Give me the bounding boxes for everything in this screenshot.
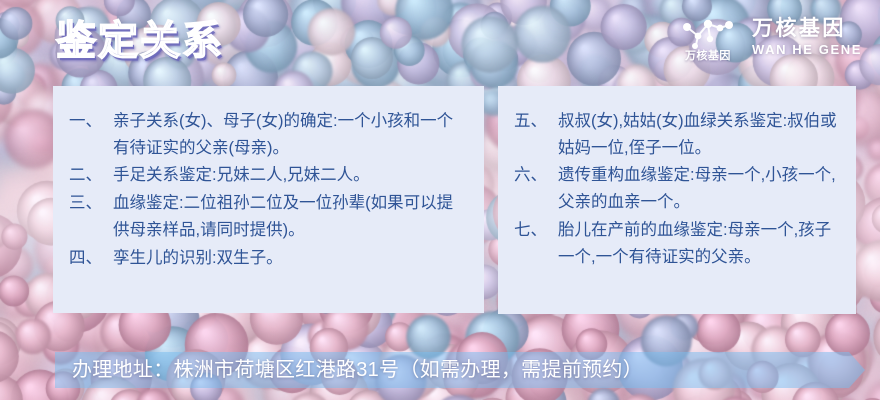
footer-address-text: 办理地址：株洲市荷塘区红港路31号（如需办理，需提前预约） — [72, 352, 643, 388]
molecule-icon: 万核基因 — [674, 14, 742, 62]
list-item-text: 亲子关系(女)、母子(女)的确定:一个小孩和一个有待证实的父亲(母亲)。 — [113, 108, 468, 161]
list-item: 六、遗传重构血缘鉴定:母亲一个,小孩一个,父亲的血亲一个。 — [514, 162, 840, 215]
list-item: 四、孪生儿的识别:双生子。 — [69, 245, 468, 272]
list-item-number: 一、 — [69, 108, 113, 161]
list-item-text: 胎儿在产前的血缘鉴定:母亲一个,孩子一个,一个有待证实的父亲。 — [558, 217, 840, 270]
relationship-list-left: 一、亲子关系(女)、母子(女)的确定:一个小孩和一个有待证实的父亲(母亲)。二、… — [69, 108, 468, 271]
list-item-number: 五、 — [514, 108, 558, 161]
page-title: 鉴定关系 — [56, 16, 224, 66]
logo-mark-label: 万核基因 — [674, 47, 742, 63]
list-item-number: 二、 — [69, 162, 113, 189]
relationship-list-right: 五、叔叔(女),姑姑(女)血绿关系鉴定:叔伯或姑妈一位,侄子一位。六、遗传重构血… — [514, 108, 840, 270]
list-item-text: 叔叔(女),姑姑(女)血绿关系鉴定:叔伯或姑妈一位,侄子一位。 — [558, 108, 840, 161]
list-item: 七、胎儿在产前的血缘鉴定:母亲一个,孩子一个,一个有待证实的父亲。 — [514, 217, 840, 270]
list-item-text: 手足关系鉴定:兄妹二人,兄妹二人。 — [113, 162, 468, 189]
list-item-text: 遗传重构血缘鉴定:母亲一个,小孩一个,父亲的血亲一个。 — [558, 162, 840, 215]
list-item-number: 四、 — [69, 245, 113, 272]
info-panel-left: 一、亲子关系(女)、母子(女)的确定:一个小孩和一个有待证实的父亲(母亲)。二、… — [53, 86, 484, 313]
list-item: 三、血缘鉴定:二位祖孙二位及一位孙辈(如果可以提供母亲样品,请同时提供)。 — [69, 190, 468, 243]
brand-name-cn: 万核基因 — [752, 17, 862, 41]
info-panel-right: 五、叔叔(女),姑姑(女)血绿关系鉴定:叔伯或姑妈一位,侄子一位。六、遗传重构血… — [498, 86, 856, 314]
poster-root: 鉴定关系 — [0, 0, 880, 400]
list-item-number: 七、 — [514, 217, 558, 270]
list-item-text: 血缘鉴定:二位祖孙二位及一位孙辈(如果可以提供母亲样品,请同时提供)。 — [113, 190, 468, 243]
brand-name: 万核基因 WAN HE GENE — [752, 17, 862, 59]
list-item: 五、叔叔(女),姑姑(女)血绿关系鉴定:叔伯或姑妈一位,侄子一位。 — [514, 108, 840, 161]
list-item-text: 孪生儿的识别:双生子。 — [113, 245, 468, 272]
list-item-number: 六、 — [514, 162, 558, 215]
list-item: 二、手足关系鉴定:兄妹二人,兄妹二人。 — [69, 162, 468, 189]
brand-name-en: WAN HE GENE — [752, 41, 862, 59]
list-item-number: 三、 — [69, 190, 113, 243]
list-item: 一、亲子关系(女)、母子(女)的确定:一个小孩和一个有待证实的父亲(母亲)。 — [69, 108, 468, 161]
brand-logo: 万核基因 万核基因 WAN HE GENE — [674, 14, 862, 62]
